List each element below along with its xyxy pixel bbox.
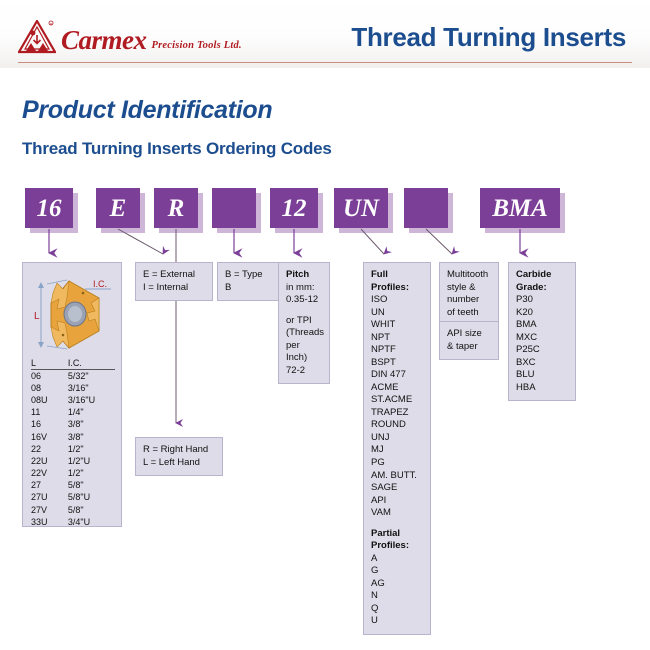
table-cell: 3/16"U: [56, 394, 115, 406]
table-row: 08U3/16"U: [31, 394, 115, 406]
callout-line: A: [371, 553, 423, 566]
callout-line: 72-2: [286, 365, 322, 378]
callout-line: Profiles:: [371, 540, 423, 553]
table-cell: 27V: [31, 504, 56, 516]
logo-wordmark: Carmex: [61, 27, 147, 54]
callout-line: N: [371, 590, 423, 603]
callout-line: I = Internal: [143, 282, 205, 295]
callout-line: P25C: [516, 344, 568, 357]
callout-line: TRAPEZ: [371, 407, 423, 420]
callout-line: NPTF: [371, 344, 423, 357]
callout-right-left-hand: R = Right HandL = Left Hand: [135, 437, 223, 476]
callout-spacer: [371, 520, 423, 528]
table-header-cell: L: [31, 359, 56, 370]
table-cell: 5/8": [56, 480, 115, 492]
table-cell: 3/8": [56, 431, 115, 443]
callout-line: BMA: [516, 319, 568, 332]
table-cell: 22U: [31, 455, 56, 467]
callout-line: UNJ: [371, 432, 423, 445]
table-cell: 11: [31, 407, 56, 419]
page-subtitle: Thread Turning Inserts Ordering Codes: [22, 139, 332, 159]
table-cell: 08U: [31, 394, 56, 406]
callout-line: BLU: [516, 369, 568, 382]
callout-line: Partial: [371, 528, 423, 541]
callout-line: NPT: [371, 332, 423, 345]
table-row: 163/8": [31, 419, 115, 431]
table-row: 221/2": [31, 443, 115, 455]
callout-line: WHIT: [371, 319, 423, 332]
callout-line: L = Left Hand: [143, 457, 215, 470]
callout-line: BSPT: [371, 357, 423, 370]
carmex-triangle-logo-icon: R: [18, 20, 56, 54]
callout-spacer: [286, 307, 322, 315]
header-title: Thread Turning Inserts: [351, 22, 626, 53]
callout-line: of teeth: [447, 307, 491, 320]
callout-type-b: B = Type B: [217, 262, 279, 301]
table-cell: 16: [31, 419, 56, 431]
table-cell: 1/2"U: [56, 455, 115, 467]
svg-text:L: L: [34, 311, 40, 322]
callout-line: (Threads: [286, 327, 322, 340]
svg-text:I.C.: I.C.: [93, 279, 107, 289]
table-row: 33U3/4"U: [31, 516, 115, 528]
table-header-row: LI.C.: [31, 359, 115, 370]
table-cell: 22V: [31, 468, 56, 480]
callout-line: MJ: [371, 444, 423, 457]
callout-line: DIN 477: [371, 369, 423, 382]
callout-line: VAM: [371, 507, 423, 520]
table-row: 27V5/8": [31, 504, 115, 516]
callout-line: E = External: [143, 269, 205, 282]
table-cell: 16V: [31, 431, 56, 443]
page-title: Product Identification: [22, 96, 272, 125]
callout-line: SAGE: [371, 482, 423, 495]
table-row: 275/8": [31, 480, 115, 492]
table-cell: 3/8": [56, 419, 115, 431]
callout-line: BXC: [516, 357, 568, 370]
callout-carbide-grade: CarbideGrade:P30K20BMAMXCP25CBXCBLUHBA: [508, 262, 576, 401]
callout-line: AM. BUTT.: [371, 470, 423, 483]
callout-line: ROUND: [371, 419, 423, 432]
callout-line: R = Right Hand: [143, 444, 215, 457]
callout-line: AG: [371, 578, 423, 591]
callout-line: Carbide: [516, 269, 568, 282]
callout-line: MXC: [516, 332, 568, 345]
callout-line: ISO: [371, 294, 423, 307]
insert-size-table: LI.C. 065/32"083/16"08U3/16"U111/4"163/8…: [31, 359, 115, 528]
table-cell: 33U: [31, 516, 56, 528]
table-cell: 1/2": [56, 468, 115, 480]
callout-line: API: [371, 495, 423, 508]
callout-line: B = Type B: [225, 269, 271, 294]
callout-line: UN: [371, 307, 423, 320]
callout-pitch: Pitchin mm:0.35-12or TPI(Threadsper Inch…: [278, 262, 330, 384]
table-cell: 3/16": [56, 382, 115, 394]
table-row: 22V1/2": [31, 468, 115, 480]
callout-line: 0.35-12: [286, 294, 322, 307]
callout-line: PG: [371, 457, 423, 470]
callout-external-internal: E = ExternalI = Internal: [135, 262, 213, 301]
callout-line: Full: [371, 269, 423, 282]
table-cell: 22: [31, 443, 56, 455]
insert-dimension-callout: L I.C. LI.C. 065/32"083/16"08U3/16"U111/…: [22, 262, 122, 527]
table-row: 22U1/2"U: [31, 455, 115, 467]
table-row: 083/16": [31, 382, 115, 394]
insert-drawing-icon: L I.C.: [23, 263, 123, 363]
table-cell: 1/4": [56, 407, 115, 419]
callout-multitooth: Multitoothstyle &numberof teeth: [439, 262, 499, 326]
callout-line: P30: [516, 294, 568, 307]
table-row: 27U5/8"U: [31, 492, 115, 504]
table-header-cell: I.C.: [56, 359, 115, 370]
callout-line: Q: [371, 603, 423, 616]
callout-line: K20: [516, 307, 568, 320]
table-row: 16V3/8": [31, 431, 115, 443]
table-cell: 1/2": [56, 443, 115, 455]
table-cell: 27: [31, 480, 56, 492]
table-cell: 08: [31, 382, 56, 394]
callout-line: U: [371, 615, 423, 628]
callout-api-size: API size& taper: [439, 321, 499, 360]
callout-line: in mm:: [286, 282, 322, 295]
callout-line: HBA: [516, 382, 568, 395]
table-cell: 3/4"U: [56, 516, 115, 528]
callout-line: Profiles:: [371, 282, 423, 295]
header-divider: [18, 62, 632, 63]
callout-line: Pitch: [286, 269, 322, 282]
table-row: 111/4": [31, 407, 115, 419]
callout-line: per Inch): [286, 340, 322, 365]
logo-tagline: Precision Tools Ltd.: [152, 40, 242, 54]
callout-line: number: [447, 294, 491, 307]
table-row: 065/32": [31, 370, 115, 383]
table-cell: 5/8": [56, 504, 115, 516]
table-cell: 5/32": [56, 370, 115, 383]
callout-line: style &: [447, 282, 491, 295]
table-cell: 5/8"U: [56, 492, 115, 504]
callout-line: Multitooth: [447, 269, 491, 282]
callout-line: API size: [447, 328, 491, 341]
callout-line: or TPI: [286, 315, 322, 328]
callout-line: Grade:: [516, 282, 568, 295]
callout-line: ST.ACME: [371, 394, 423, 407]
callout-line: & taper: [447, 341, 491, 354]
callout-profiles: FullProfiles:ISOUNWHITNPTNPTFBSPTDIN 477…: [363, 262, 431, 635]
carmex-logo: R Carmex Precision Tools Ltd.: [18, 20, 242, 54]
table-cell: 06: [31, 370, 56, 383]
callout-line: ACME: [371, 382, 423, 395]
table-cell: 27U: [31, 492, 56, 504]
page-header: R Carmex Precision Tools Ltd. Thread Tur…: [0, 0, 650, 68]
callout-line: G: [371, 565, 423, 578]
